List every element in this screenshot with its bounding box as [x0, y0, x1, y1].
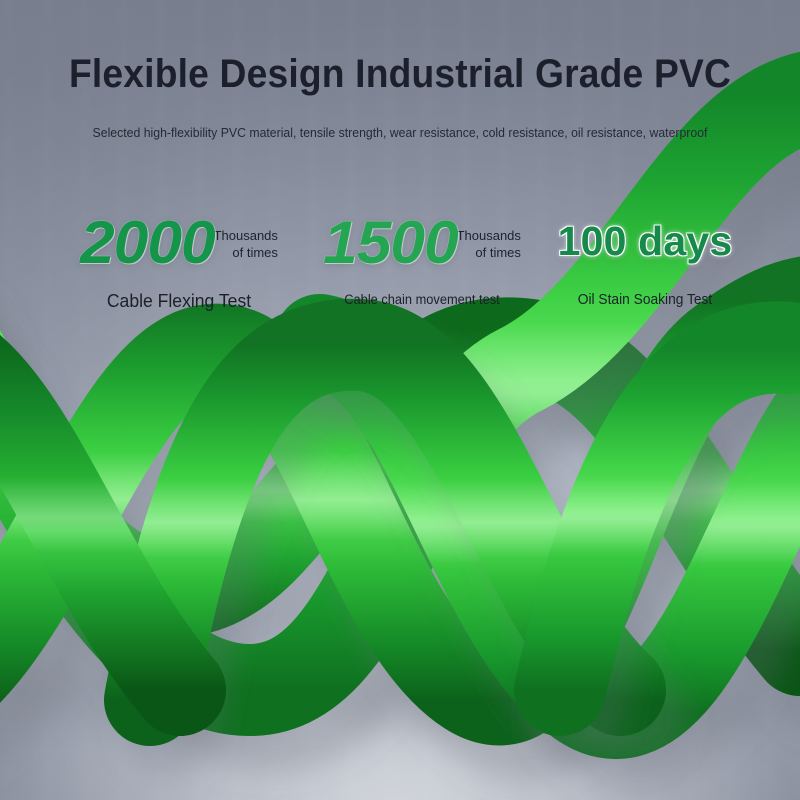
- stat-value-group: 2000 Thousands of times: [54, 212, 304, 276]
- stat-unit-line1: Thousands: [457, 228, 521, 243]
- stat-label: Oil Stain Soaking Test: [545, 292, 745, 308]
- stat-label: Cable chain movement test: [310, 292, 534, 307]
- stat-card-cable-chain-movement-test: 1500 Thousands of times Cable chain move…: [304, 212, 540, 307]
- header: Flexible Design Industrial Grade PVC Sel…: [0, 0, 800, 140]
- stat-unit-line2: of times: [475, 245, 521, 260]
- stat-value-group: 1500 Thousands of times: [304, 212, 540, 276]
- stat-value: 2000: [80, 212, 215, 274]
- stat-card-cable-flexing-test: 2000 Thousands of times Cable Flexing Te…: [54, 212, 304, 312]
- stat-unit-line2: of times: [232, 245, 278, 260]
- stat-unit: Thousands of times: [214, 212, 278, 261]
- page-title: Flexible Design Industrial Grade PVC: [28, 0, 772, 97]
- stat-label: Cable Flexing Test: [60, 290, 298, 312]
- stat-unit: Thousands of times: [457, 212, 521, 261]
- stat-unit-line1: Thousands: [214, 228, 278, 243]
- product-feature-banner: Flexible Design Industrial Grade PVC Sel…: [0, 0, 800, 800]
- page-subtitle: Selected high-flexibility PVC material, …: [28, 97, 772, 140]
- stat-card-oil-stain-soaking-test: 100 days Oil Stain Soaking Test: [540, 212, 750, 308]
- stat-value-group: 100 days: [540, 212, 750, 276]
- stats-row: 2000 Thousands of times Cable Flexing Te…: [0, 212, 800, 312]
- stat-value: 100 days: [558, 212, 733, 270]
- stat-value: 1500: [323, 212, 458, 274]
